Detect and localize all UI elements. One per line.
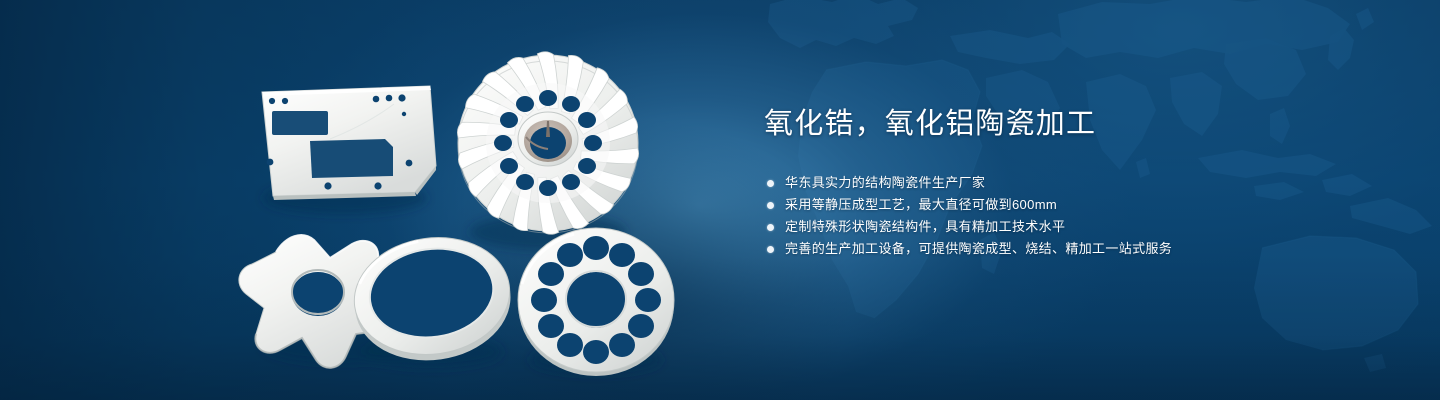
- feature-text: 定制特殊形状陶瓷结构件，具有精加工技术水平: [785, 216, 1065, 238]
- bullet-dot-icon: [767, 202, 774, 209]
- feature-text: 完善的生产加工设备，可提供陶瓷成型、烧结、精加工一站式服务: [785, 238, 1172, 260]
- feature-list: 华东具实力的结构陶瓷件生产厂家 采用等静压成型工艺，最大直径可做到600mm 定…: [767, 172, 1384, 260]
- bullet-dot-icon: [767, 180, 774, 187]
- bullet-dot-icon: [767, 246, 774, 253]
- list-item: 定制特殊形状陶瓷结构件，具有精加工技术水平: [767, 216, 1384, 238]
- promo-banner: 氧化锆，氧化铝陶瓷加工 华东具实力的结构陶瓷件生产厂家 采用等静压成型工艺，最大…: [0, 0, 1440, 400]
- bullet-dot-icon: [767, 224, 774, 231]
- feature-text: 采用等静压成型工艺，最大直径可做到600mm: [785, 194, 1057, 216]
- feature-text: 华东具实力的结构陶瓷件生产厂家: [785, 172, 985, 194]
- list-item: 采用等静压成型工艺，最大直径可做到600mm: [767, 194, 1384, 216]
- banner-copy: 氧化锆，氧化铝陶瓷加工 华东具实力的结构陶瓷件生产厂家 采用等静压成型工艺，最大…: [764, 104, 1384, 260]
- page-title: 氧化锆，氧化铝陶瓷加工: [764, 104, 1384, 144]
- list-item: 完善的生产加工设备，可提供陶瓷成型、烧结、精加工一站式服务: [767, 238, 1384, 260]
- list-item: 华东具实力的结构陶瓷件生产厂家: [767, 172, 1384, 194]
